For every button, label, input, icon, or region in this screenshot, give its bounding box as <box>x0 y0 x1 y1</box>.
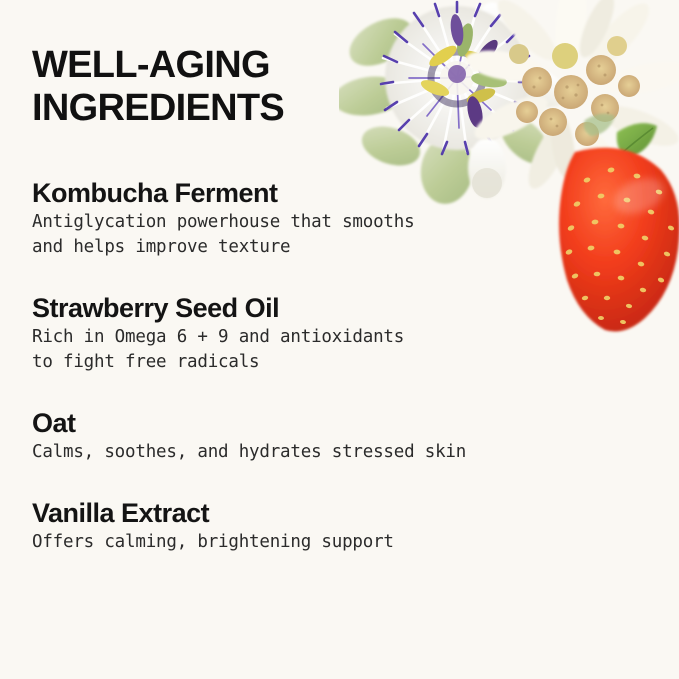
ingredient-item-kombucha-ferment: Kombucha Ferment Antiglycation powerhous… <box>32 177 592 260</box>
ingredient-description: Calms, soothes, and hydrates stressed sk… <box>32 440 592 465</box>
ingredient-name: Kombucha Ferment <box>32 177 592 209</box>
ingredient-item-vanilla-extract: Vanilla Extract Offers calming, brighten… <box>32 497 592 555</box>
ingredient-name: Oat <box>32 407 592 439</box>
ingredient-description: Antiglycation powerhouse that smooths an… <box>32 210 592 260</box>
ingredient-name: Strawberry Seed Oil <box>32 292 592 324</box>
ingredient-description: Rich in Omega 6 + 9 and antioxidants to … <box>32 325 592 375</box>
content-column: WELL-AGING INGREDIENTS Kombucha Ferment … <box>32 0 592 555</box>
ingredient-list: Kombucha Ferment Antiglycation powerhous… <box>32 130 592 555</box>
ingredient-item-strawberry-seed-oil: Strawberry Seed Oil Rich in Omega 6 + 9 … <box>32 292 592 375</box>
page-title: WELL-AGING INGREDIENTS <box>32 0 362 130</box>
ingredient-item-oat: Oat Calms, soothes, and hydrates stresse… <box>32 407 592 465</box>
ingredients-infographic: WELL-AGING INGREDIENTS Kombucha Ferment … <box>0 0 679 679</box>
green-leaf-graphic <box>584 114 657 158</box>
ingredient-description: Offers calming, brightening support <box>32 530 592 555</box>
ingredient-name: Vanilla Extract <box>32 497 592 529</box>
